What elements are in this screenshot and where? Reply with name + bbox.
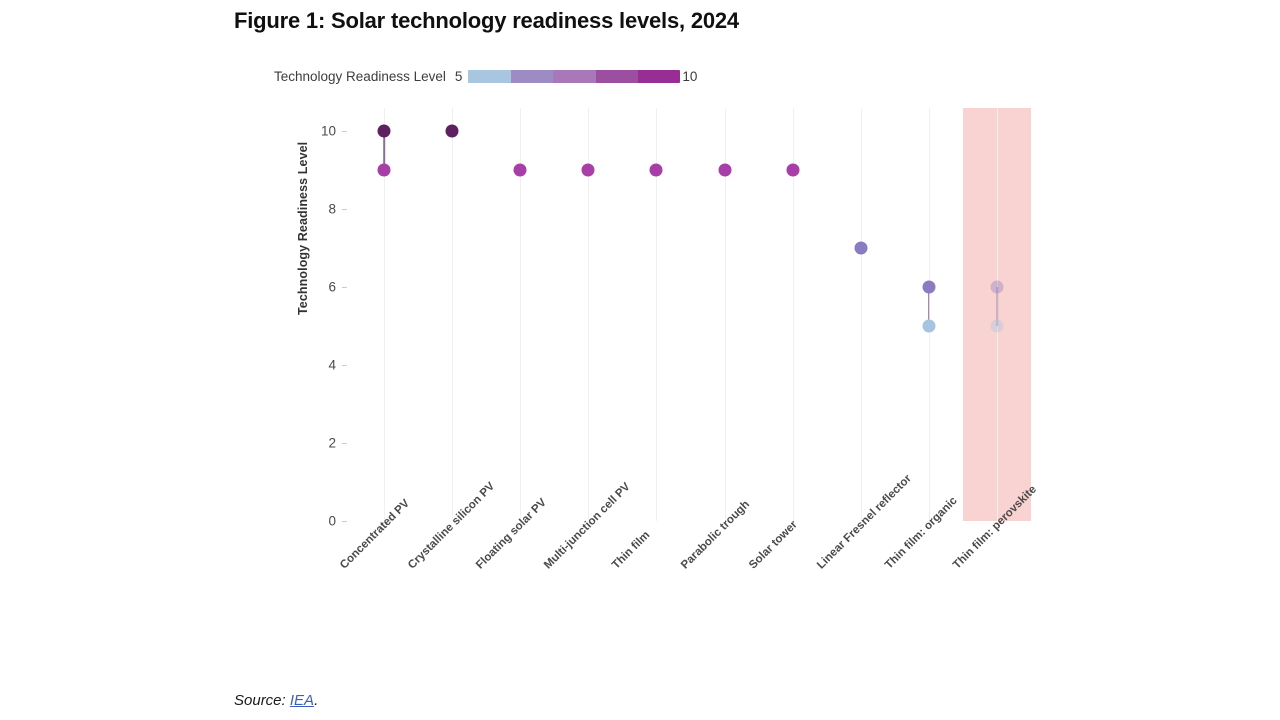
source-link[interactable]: IEA <box>290 692 314 709</box>
data-point[interactable] <box>378 125 391 138</box>
y-axis-tick-mark <box>342 287 347 288</box>
data-point[interactable] <box>378 164 391 177</box>
y-axis-tick-mark <box>342 521 347 522</box>
y-axis-tick-mark <box>342 209 347 210</box>
x-axis-tick-label: Solar tower <box>747 519 800 572</box>
data-point[interactable] <box>786 164 799 177</box>
y-axis-tick-label: 8 <box>302 202 336 217</box>
data-point[interactable] <box>854 242 867 255</box>
gridline-vertical <box>452 108 453 521</box>
plot-wrapper: 0246810Concentrated PVCrystalline silico… <box>0 0 1280 720</box>
data-point[interactable] <box>650 164 663 177</box>
data-point[interactable] <box>514 164 527 177</box>
source-suffix: . <box>314 692 318 709</box>
y-axis-tick-mark <box>342 365 347 366</box>
source-note: Source: IEA. <box>234 692 318 709</box>
gridline-vertical <box>861 108 862 521</box>
y-axis-tick-mark <box>342 443 347 444</box>
plot-area <box>350 108 1031 521</box>
y-axis-tick-label: 6 <box>302 280 336 295</box>
data-point[interactable] <box>718 164 731 177</box>
data-point[interactable] <box>990 281 1003 294</box>
data-point[interactable] <box>582 164 595 177</box>
data-point[interactable] <box>922 281 935 294</box>
data-point[interactable] <box>990 320 1003 333</box>
x-axis-tick-label: Thin film <box>610 529 652 571</box>
y-axis-tick-mark <box>342 131 347 132</box>
y-axis-tick-label: 2 <box>302 436 336 451</box>
y-axis-tick-label: 4 <box>302 358 336 373</box>
y-axis-tick-label: 0 <box>302 514 336 529</box>
source-prefix: Source: <box>234 692 290 709</box>
data-point[interactable] <box>922 320 935 333</box>
figure-container: Figure 1: Solar technology readiness lev… <box>0 0 1280 720</box>
y-axis-tick-label: 10 <box>302 124 336 139</box>
data-point[interactable] <box>446 125 459 138</box>
